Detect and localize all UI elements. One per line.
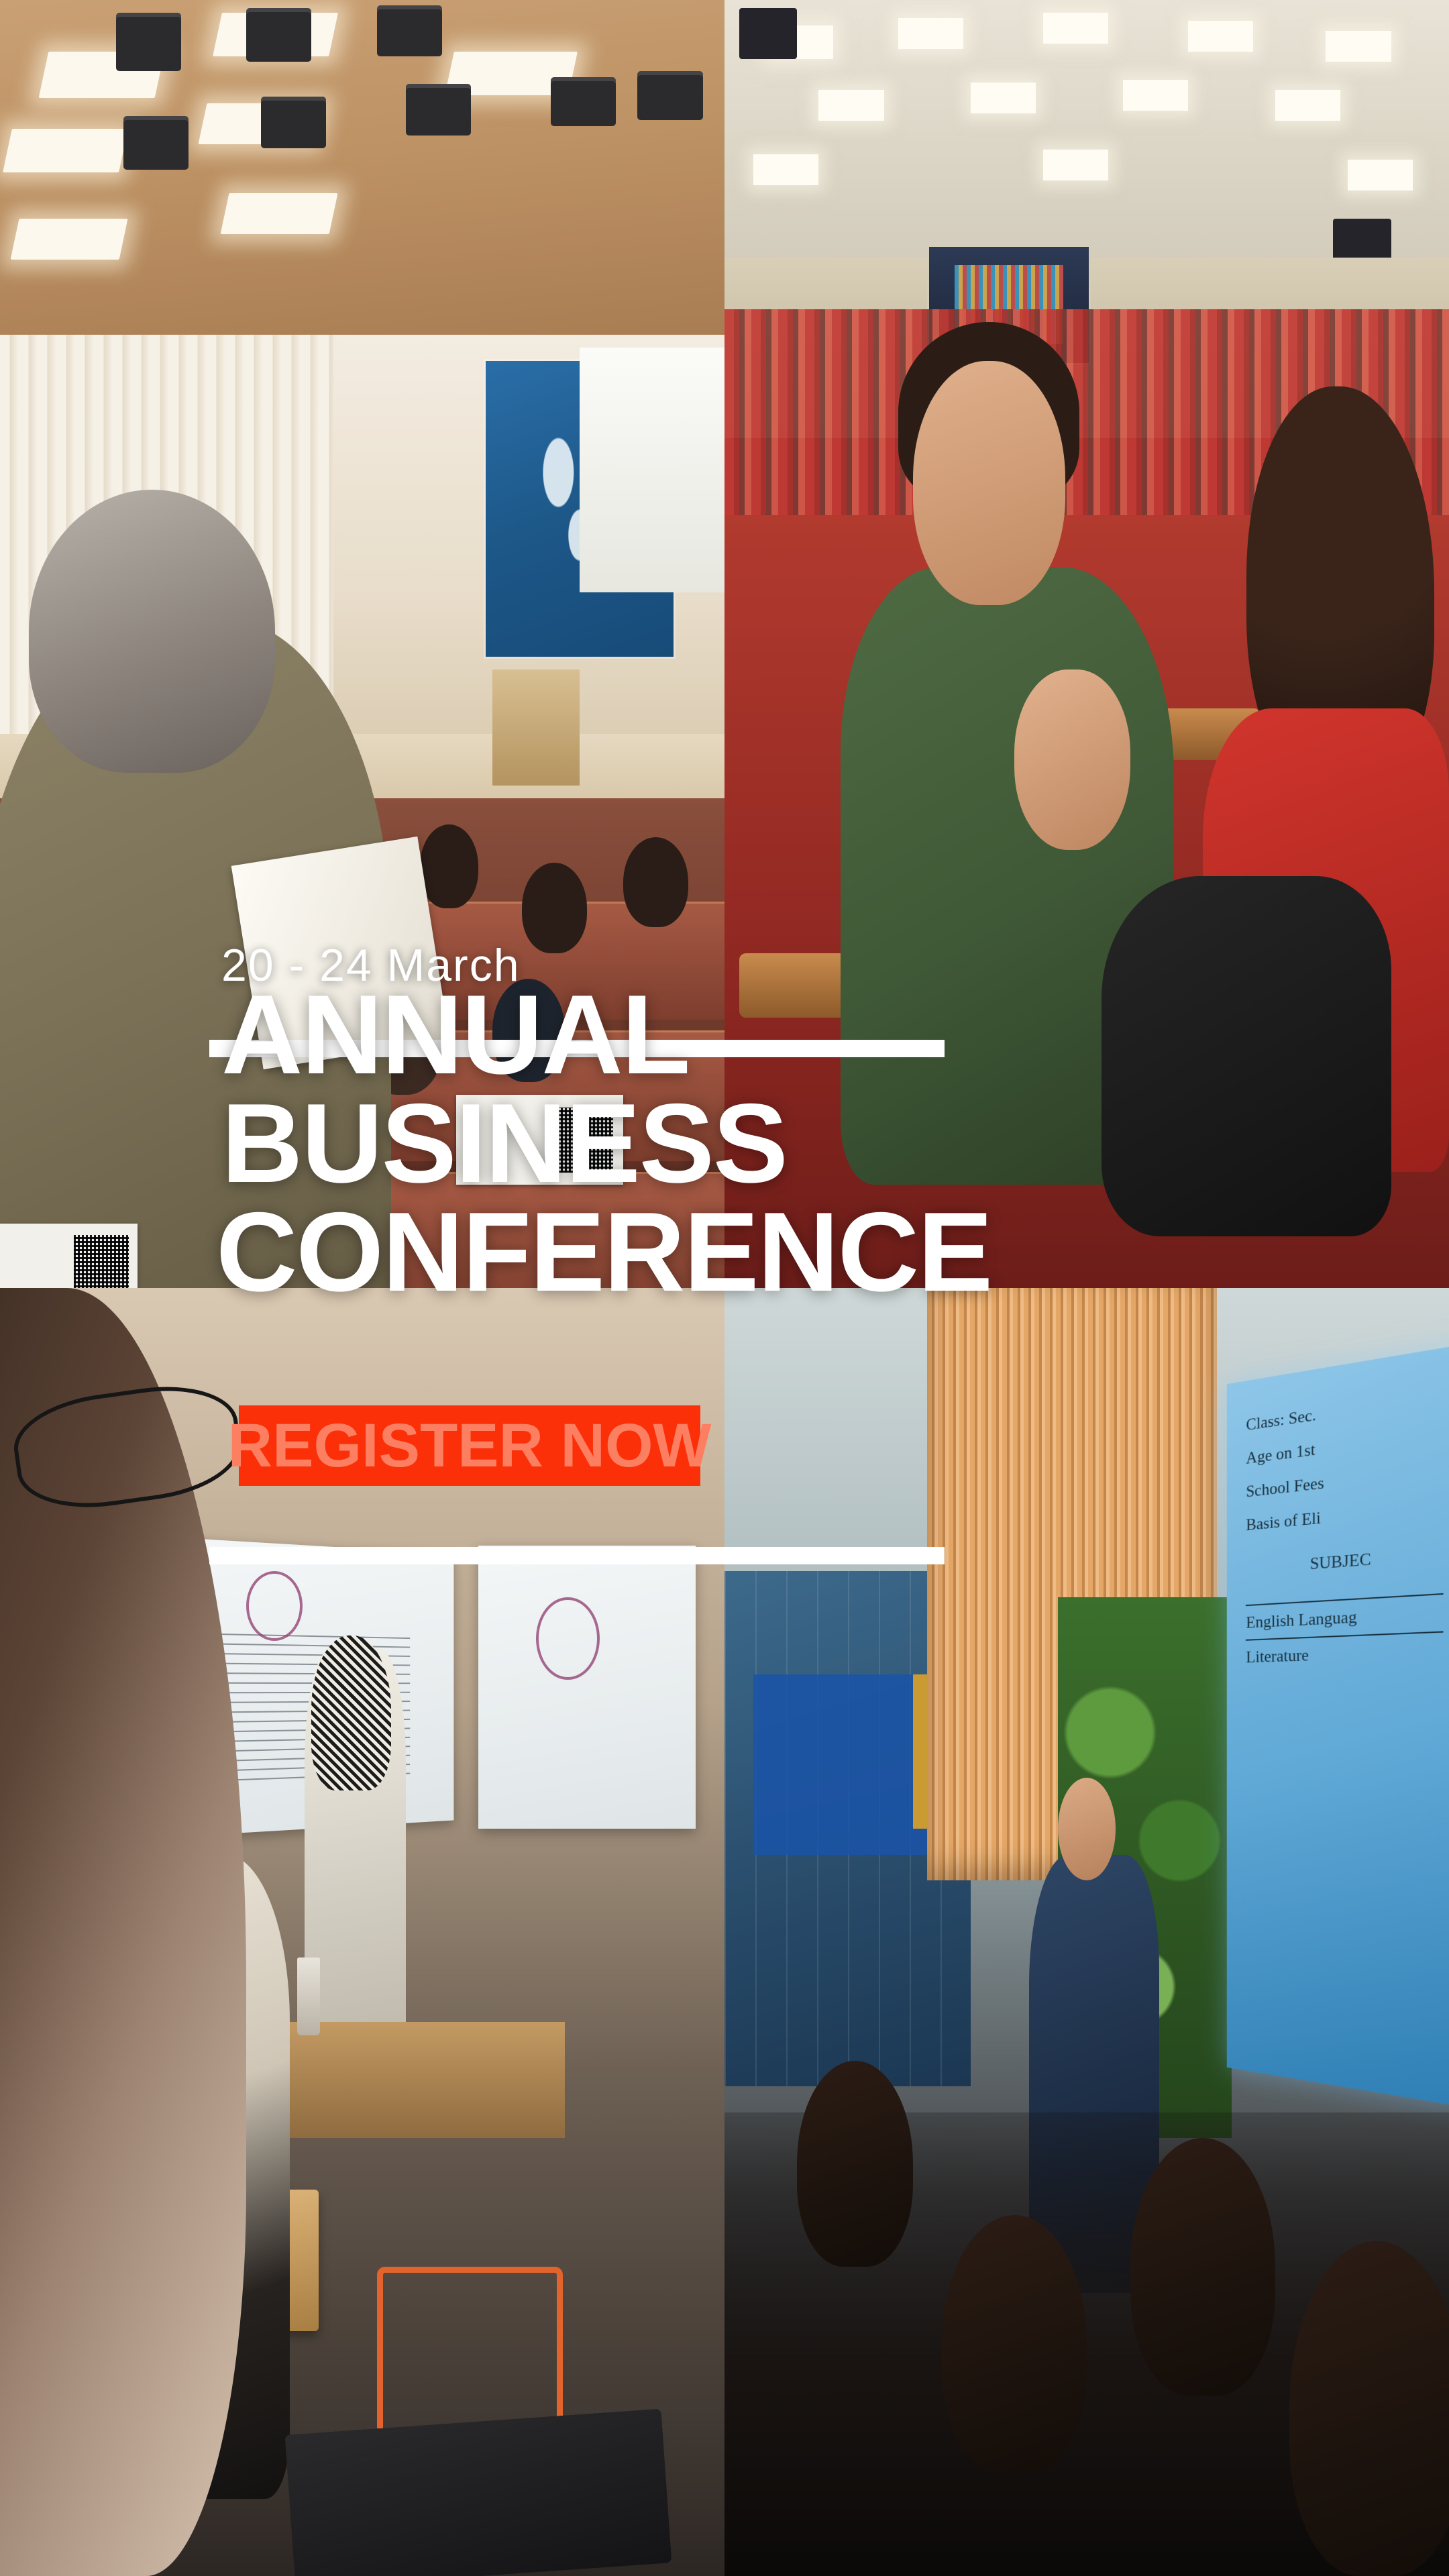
ceiling-panel <box>1043 13 1108 44</box>
stage-light <box>551 77 616 126</box>
presentation-board-secondary <box>478 1546 696 1829</box>
ceiling-panel <box>1275 90 1340 121</box>
clapping-hands <box>1014 669 1130 850</box>
photo-top-right <box>724 0 1449 1288</box>
stage-light <box>116 13 181 70</box>
seat-qr-tag <box>456 1095 623 1185</box>
stage-light <box>123 116 189 170</box>
ceiling-light <box>3 129 128 172</box>
blue-information-board: Class: Sec. Age on 1st School Fees Basis… <box>1227 1344 1449 2108</box>
speaker-headscarf <box>311 1635 391 1790</box>
featured-attendee-face <box>913 361 1065 606</box>
conference-poster: Class: Sec. Age on 1st School Fees Basis… <box>0 0 1449 2576</box>
stage-light <box>377 5 442 57</box>
folded-jacket <box>1102 876 1391 1237</box>
register-now-button[interactable]: REGISTER NOW <box>239 1405 700 1486</box>
audience-head <box>492 979 565 1082</box>
photo-bottom-right: Class: Sec. Age on 1st School Fees Basis… <box>724 1288 1449 2576</box>
audience-head <box>420 824 478 908</box>
foreground-attendee-head <box>29 490 275 773</box>
ceiling-panel <box>818 90 883 121</box>
board-decoration <box>246 1571 303 1641</box>
stage-light <box>739 8 797 60</box>
laptops-on-floor <box>285 2408 672 2576</box>
storefront-blue-sign <box>753 1674 927 1855</box>
drink-cup <box>297 1957 321 2035</box>
photo-collage: Class: Sec. Age on 1st School Fees Basis… <box>0 0 1449 2576</box>
stage-light <box>637 71 702 120</box>
photo-top-left <box>0 0 724 1288</box>
podium <box>492 669 580 786</box>
stage-light <box>246 8 311 62</box>
presenter-head <box>1058 1778 1116 1881</box>
register-now-label: REGISTER NOW <box>228 1415 712 1477</box>
audience-head <box>1130 2138 1275 2396</box>
board-row: SUBJEC <box>1246 1536 1444 1586</box>
audience-head <box>623 837 688 927</box>
audience-head <box>1289 2241 1449 2576</box>
ceiling-panel <box>1326 31 1391 62</box>
seat-qr-tag <box>0 1224 138 1288</box>
audience-head <box>942 2215 1087 2473</box>
ceiling-panel <box>1188 21 1253 52</box>
ceiling-light <box>10 219 127 260</box>
ceiling-light <box>220 193 337 234</box>
stage-light <box>406 84 471 136</box>
ceiling-panel <box>753 154 818 185</box>
audience-head <box>797 2061 913 2267</box>
ceiling-panel <box>1043 150 1108 180</box>
audience-head <box>522 863 587 953</box>
ceiling-panel <box>1123 80 1188 111</box>
ceiling-panel <box>1348 160 1413 191</box>
ceiling-panel <box>971 83 1036 113</box>
stage-light <box>261 97 326 148</box>
board-decoration <box>536 1597 599 1680</box>
ceiling-panel <box>898 18 963 49</box>
projection-screen <box>580 347 724 592</box>
programme-booklet <box>231 837 449 1069</box>
